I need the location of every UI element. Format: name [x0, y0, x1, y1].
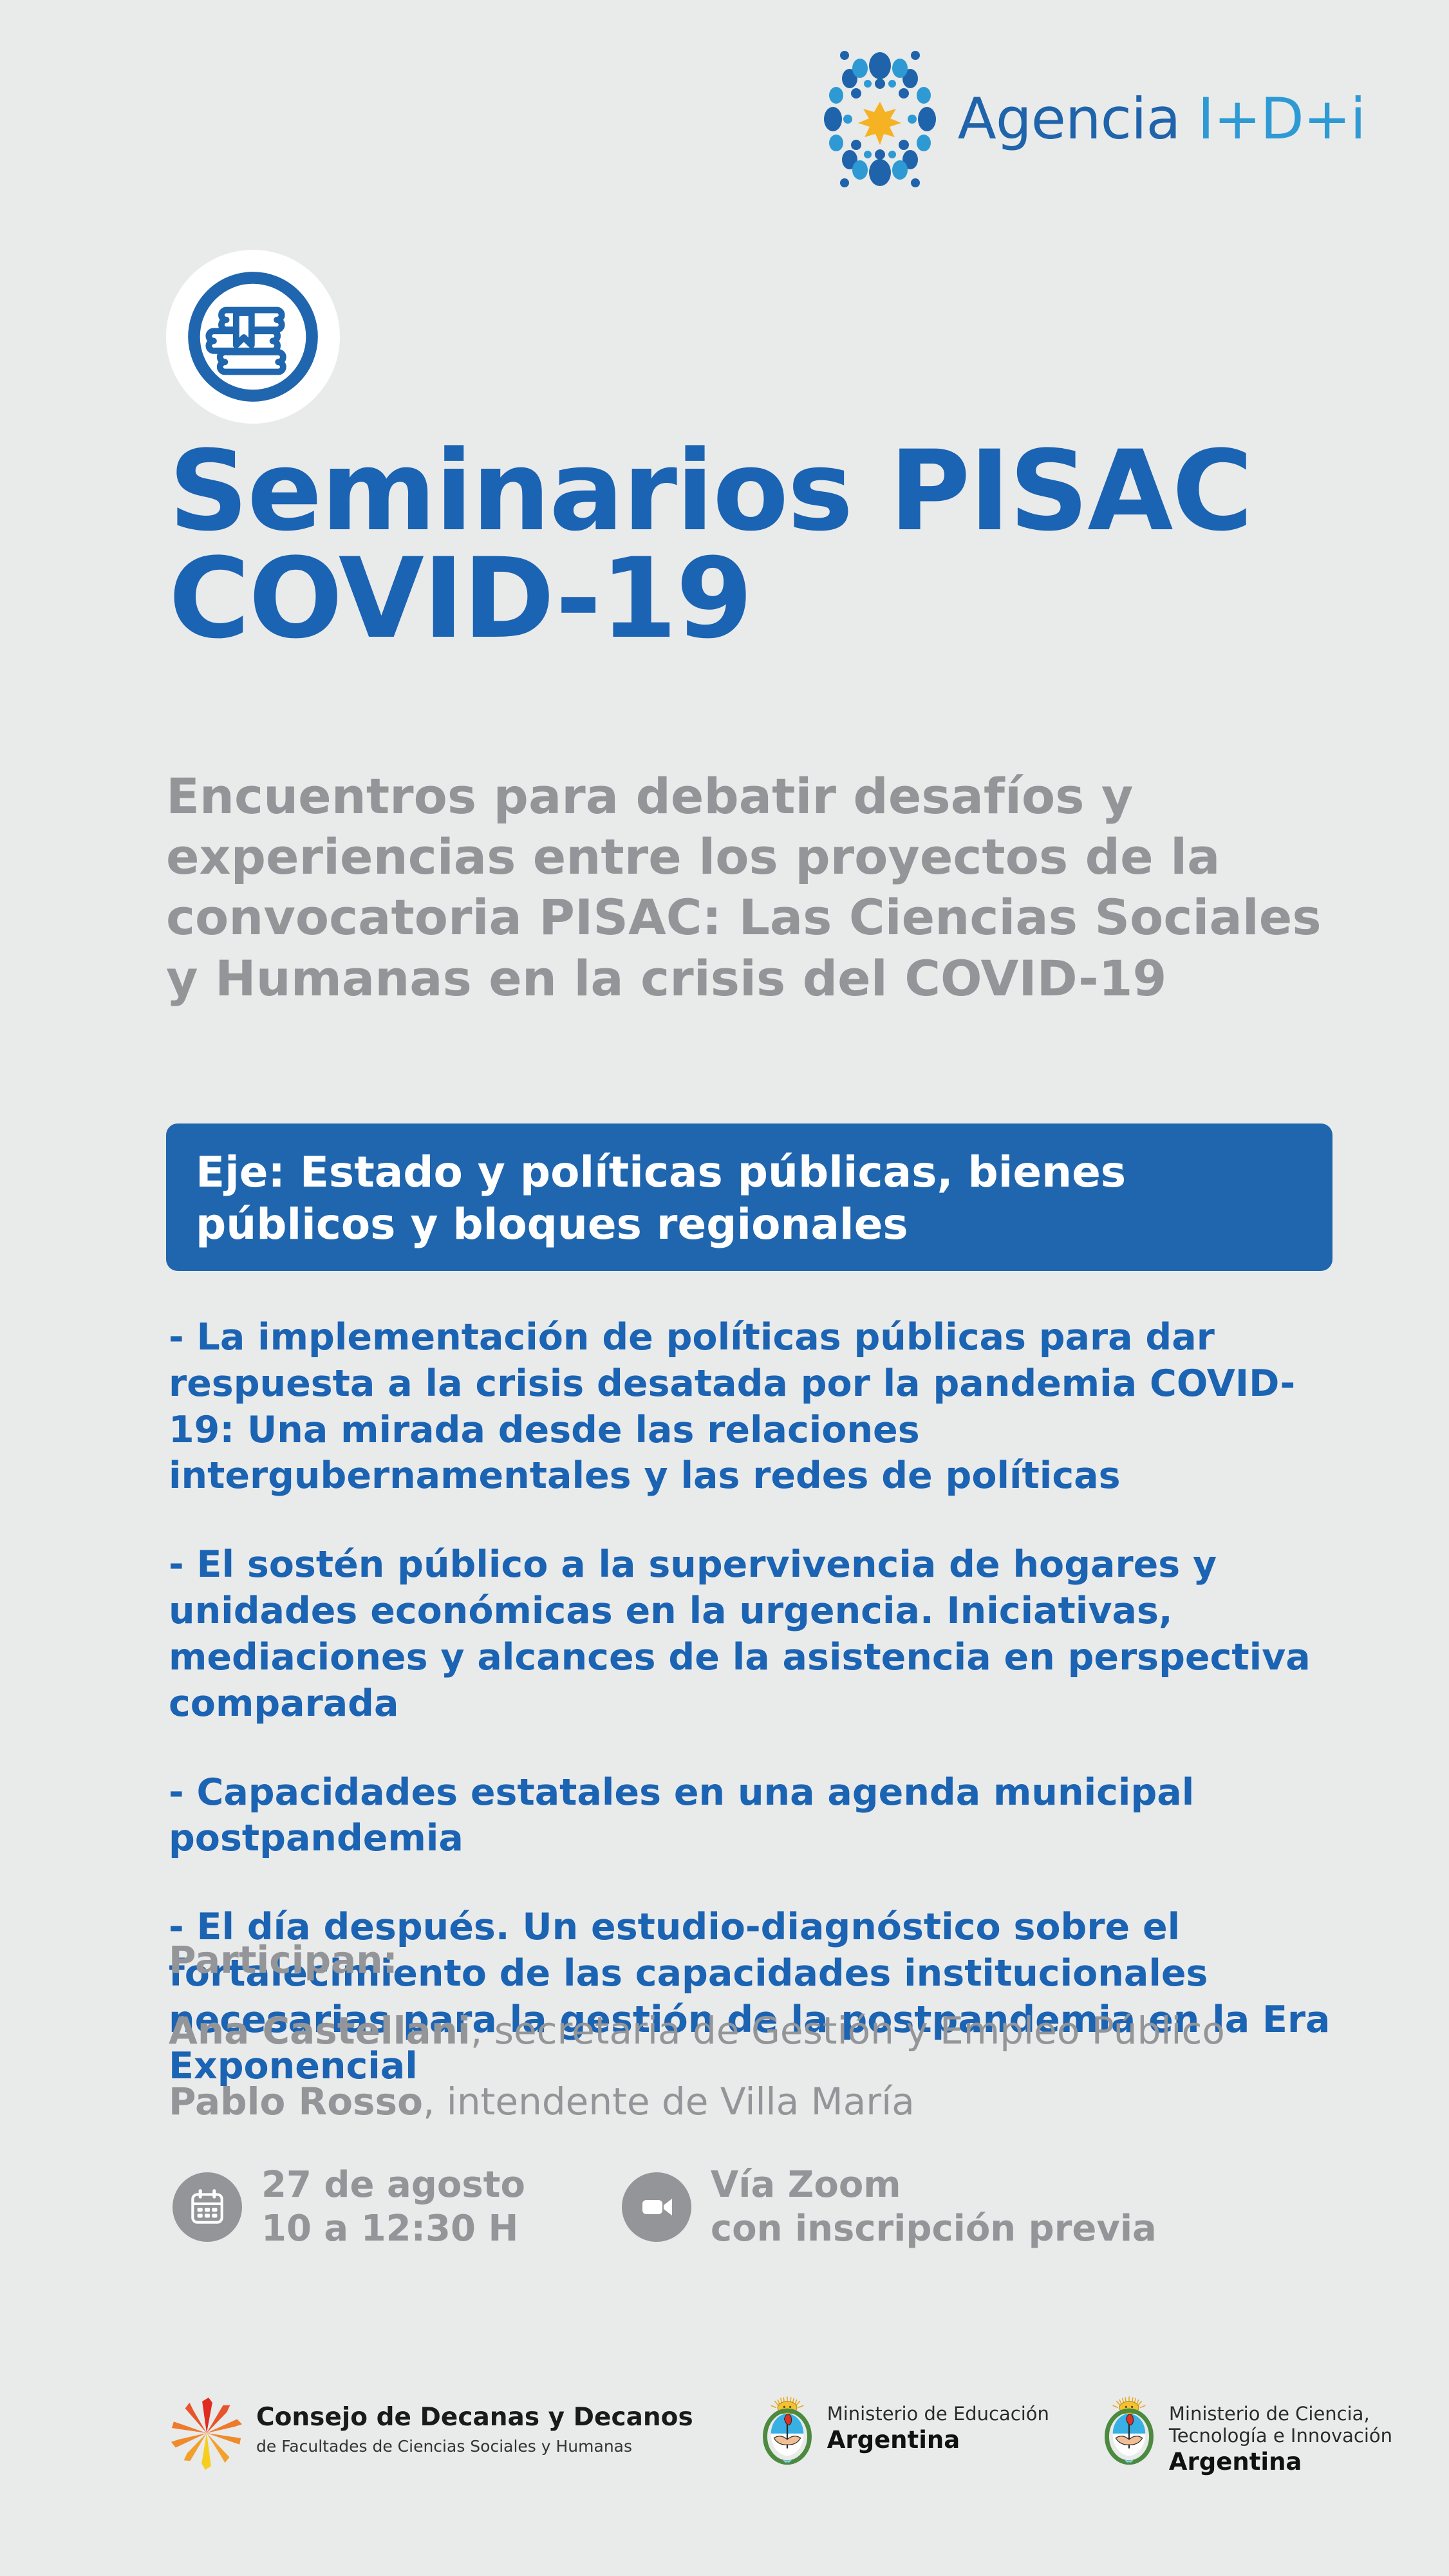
participant-role: , secretaria de Gestión y Empleo Público	[471, 2009, 1225, 2053]
consejo-subtitle: de Facultades de Ciencias Sociales y Hum…	[256, 2437, 693, 2456]
list-item: Pablo Rosso, intendente de Villa María	[169, 2080, 1327, 2123]
event-platform-text: Vía Zoom con inscripción previa	[711, 2163, 1157, 2252]
calendar-icon	[173, 2172, 242, 2242]
consejo-pinwheel-logo	[169, 2395, 245, 2471]
page-title-line2: COVID-19	[169, 545, 1340, 653]
argentina-coat-of-arms	[758, 2395, 817, 2469]
ministry-educacion-text: Ministerio de Educación Argentina	[827, 2395, 1049, 2454]
list-item: - Capacidades estatales en una agenda mu…	[169, 1770, 1347, 1863]
ministry-country: Argentina	[827, 2427, 1049, 2454]
ministry-name-line2: Tecnología e Innovación	[1169, 2425, 1392, 2447]
agencia-sun-dots-logo	[819, 45, 941, 193]
event-platform-line1: Vía Zoom	[711, 2163, 1157, 2207]
participants-section: Participan: Ana Castellani, secretaria d…	[169, 1938, 1327, 2150]
axis-banner-text: Eje: Estado y políticas públicas, bienes…	[196, 1147, 1303, 1250]
argentina-coat-of-arms	[1099, 2395, 1159, 2469]
seminar-books-badge	[166, 250, 340, 424]
participant-name: Ana Castellani	[169, 2009, 471, 2053]
agency-wordmark: Agencia I+D+i	[958, 91, 1365, 147]
event-platform-item: Vía Zoom con inscripción previa	[622, 2163, 1157, 2252]
agency-header: Agencia I+D+i	[819, 45, 1365, 193]
list-item: Ana Castellani, secretaria de Gestión y …	[169, 2009, 1327, 2053]
event-date-text: 27 de agosto 10 a 12:30 H	[261, 2163, 525, 2252]
event-platform-line2: con inscripción previa	[711, 2207, 1157, 2251]
list-item: - El sostén público a la supervivencia d…	[169, 1542, 1347, 1727]
stacked-books-bookmark-icon	[183, 267, 323, 407]
ministry-educacion-logo: Ministerio de Educación Argentina	[758, 2395, 1049, 2469]
ministry-name-line1: Ministerio de Ciencia,	[1169, 2403, 1392, 2425]
axis-banner: Eje: Estado y políticas públicas, bienes…	[166, 1123, 1332, 1271]
participants-label: Participan:	[169, 1938, 1327, 1982]
event-info-row: 27 de agosto 10 a 12:30 H Vía Zoom con i…	[173, 2163, 1157, 2252]
ministry-name-line1: Ministerio de Educación	[827, 2403, 1049, 2425]
ministry-country: Argentina	[1169, 2449, 1392, 2476]
page-subtitle: Encuentros para debatir desafíos y exper…	[166, 766, 1331, 1009]
list-item: - La implementación de políticas pública…	[169, 1315, 1347, 1500]
ministry-ciencia-logo: Ministerio de Ciencia, Tecnología e Inno…	[1099, 2395, 1392, 2476]
consejo-logo: Consejo de Decanas y Decanos de Facultad…	[169, 2395, 693, 2471]
ministry-ciencia-text: Ministerio de Ciencia, Tecnología e Inno…	[1169, 2395, 1392, 2476]
consejo-title: Consejo de Decanas y Decanos	[256, 2404, 693, 2432]
event-date-item: 27 de agosto 10 a 12:30 H	[173, 2163, 525, 2252]
participant-role: , intendente de Villa María	[423, 2080, 915, 2123]
participant-name: Pablo Rosso	[169, 2080, 423, 2123]
event-date-line1: 27 de agosto	[261, 2163, 525, 2207]
agency-wordmark-main: Agencia	[958, 86, 1198, 152]
consejo-text: Consejo de Decanas y Decanos de Facultad…	[256, 2395, 693, 2456]
poster-root: Agencia I+D+i Seminarios PISAC COVID-19 …	[0, 0, 1449, 2576]
agency-wordmark-accent: I+D+i	[1197, 86, 1365, 152]
event-date-line2: 10 a 12:30 H	[261, 2207, 525, 2251]
page-title: Seminarios PISAC COVID-19	[169, 438, 1340, 653]
footer-logos: Consejo de Decanas y Decanos de Facultad…	[0, 2395, 1449, 2543]
video-camera-icon	[622, 2172, 691, 2242]
